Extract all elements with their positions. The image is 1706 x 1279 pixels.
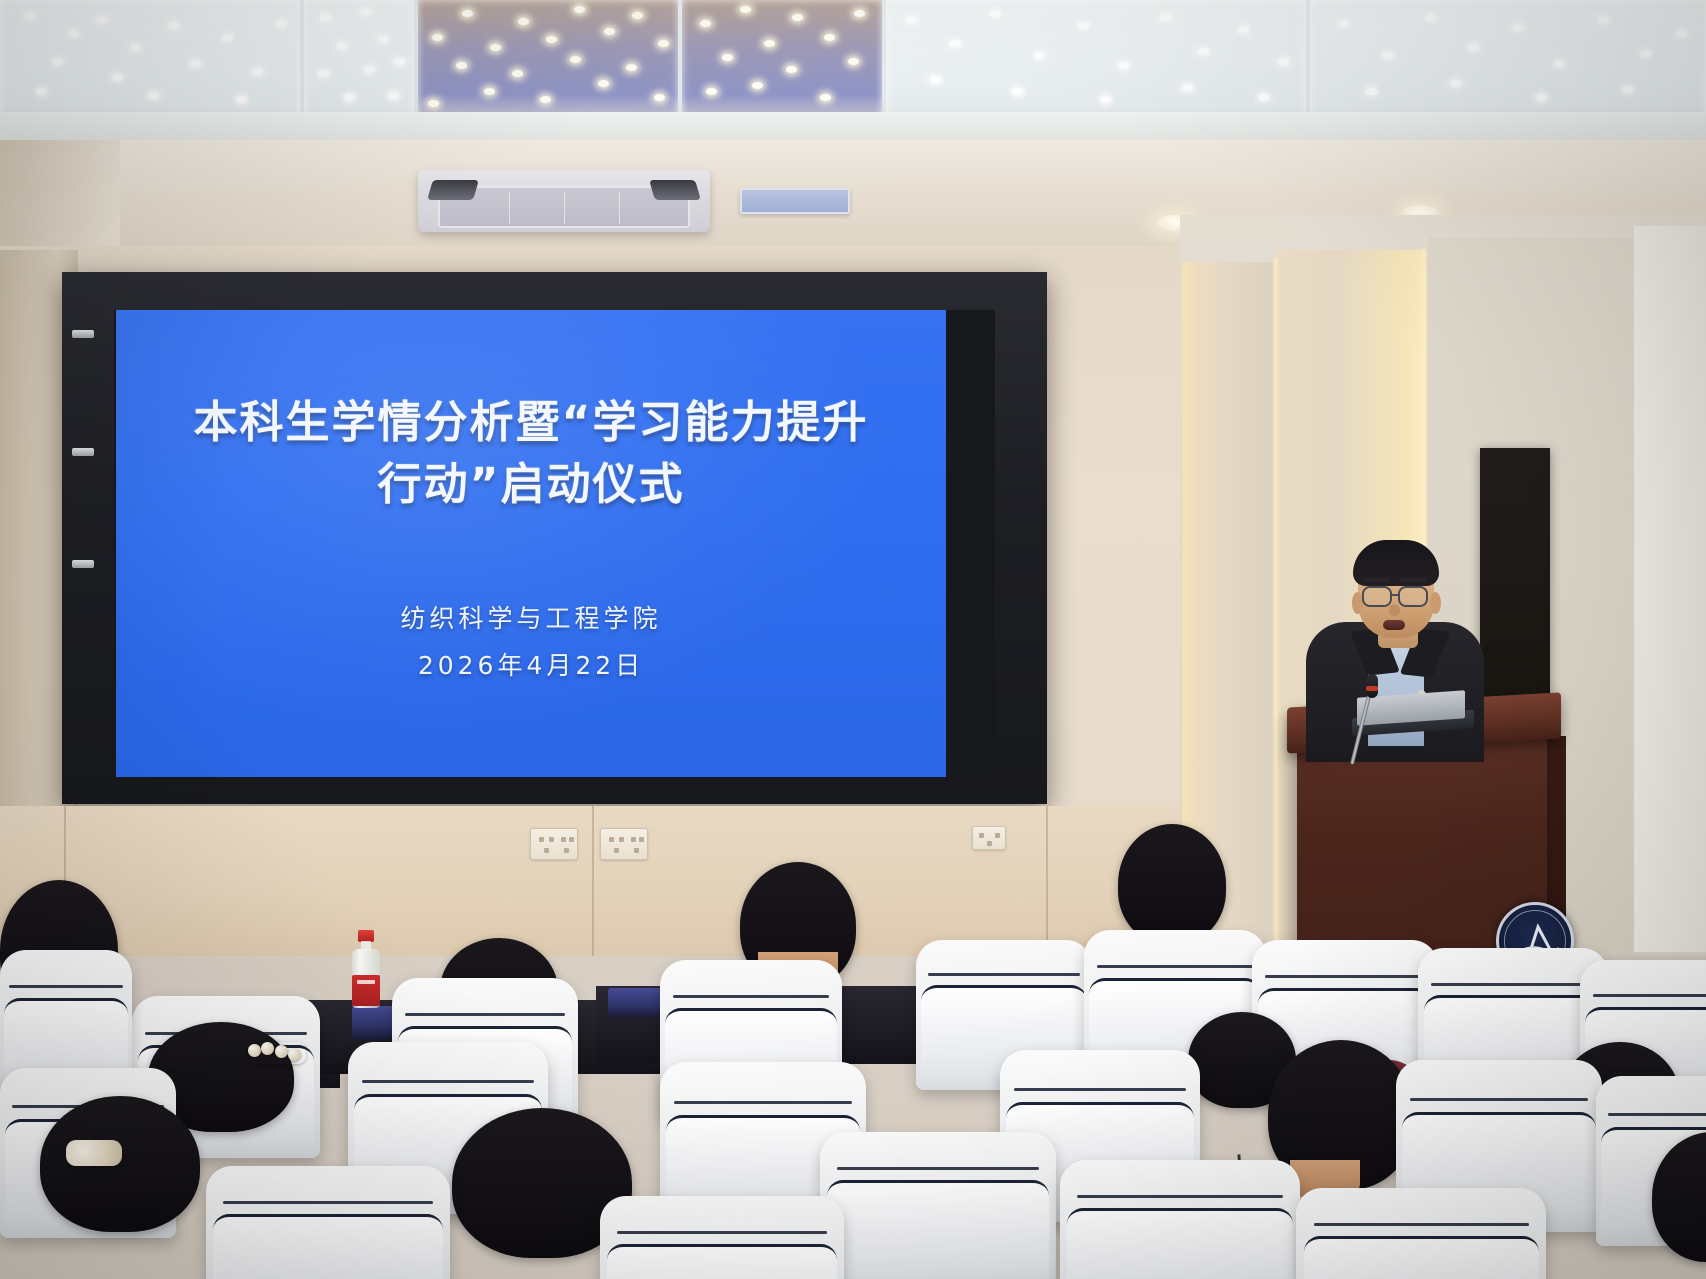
- screen-mount-bracket: [72, 560, 94, 568]
- audience-seat: [206, 1166, 450, 1279]
- slide-date: 2026年4月22日: [158, 646, 904, 682]
- ceiling-light-dots: [418, 0, 678, 118]
- speaker-ear-right: [1430, 592, 1441, 614]
- speaker-eyebrow-right: [1400, 578, 1426, 582]
- screen-mount-bracket: [72, 448, 94, 456]
- speaker-glasses-bridge: [1392, 594, 1400, 596]
- slide-subtitle: 纺织科学与工程学院: [158, 599, 904, 635]
- soffit-left-return: [0, 140, 120, 262]
- audience-head: [1118, 824, 1226, 944]
- ceiling-light-dots: [1310, 0, 1706, 118]
- ceiling-cassette-air-conditioner: [418, 170, 710, 232]
- cove-light-strip: [1272, 258, 1279, 952]
- speaker-glasses-left-lens: [1362, 586, 1392, 607]
- ac-louver-left: [427, 180, 479, 200]
- audience-seat: [820, 1132, 1056, 1279]
- ceiling-perforated-panel: [1310, 0, 1706, 118]
- wall-power-outlet[interactable]: [972, 826, 1006, 850]
- screen-mount-bracket: [72, 330, 94, 338]
- bottle-label: [352, 975, 380, 1006]
- audience-seat: [1296, 1188, 1546, 1279]
- ceiling-perforated-panel: [886, 0, 1306, 118]
- ceiling-air-vent: [740, 188, 850, 214]
- ceiling-light-dots: [682, 0, 882, 118]
- speaker-nose: [1389, 604, 1400, 616]
- speaker-mouth: [1383, 620, 1405, 630]
- ac-louver-right: [649, 180, 701, 200]
- ceiling-perforated-panel-dim: [418, 0, 678, 118]
- wall-power-outlet[interactable]: [530, 828, 578, 860]
- ceiling-light-dots: [304, 0, 414, 118]
- audience-head: [40, 1096, 200, 1232]
- slide-title-line-1: 本科生学情分析暨“学习能力提升: [158, 392, 904, 454]
- speaker-eyebrow-left: [1364, 578, 1390, 582]
- ceiling-perforated-panel: [0, 0, 300, 118]
- audience-seat: [1060, 1160, 1300, 1279]
- wall-power-outlet[interactable]: [600, 828, 648, 860]
- slide-title-line-2: 行动”启动仪式: [158, 454, 904, 516]
- audience-seat: [600, 1196, 844, 1279]
- right-wall-panel-4: [1634, 226, 1706, 952]
- ceiling-perforated-panel: [304, 0, 414, 118]
- ceiling-light-dots: [0, 0, 300, 118]
- hair-clip: [66, 1140, 122, 1166]
- ceiling-perforated-panel-dim: [682, 0, 882, 118]
- water-bottle[interactable]: [352, 930, 380, 1008]
- slide-title: 本科生学情分析暨“学习能力提升 行动”启动仪式: [158, 392, 904, 517]
- ceiling-light-dots: [886, 0, 1306, 118]
- hair-clip: [248, 1042, 306, 1064]
- speaker-glasses-right-lens: [1398, 586, 1428, 607]
- microphone-indicator-ring: [1366, 686, 1378, 691]
- auditorium-photo: 本科生学情分析暨“学习能力提升 行动”启动仪式 纺织科学与工程学院 2026年4…: [0, 0, 1706, 1279]
- presentation-slide: 本科生学情分析暨“学习能力提升 行动”启动仪式 纺织科学与工程学院 2026年4…: [116, 310, 946, 777]
